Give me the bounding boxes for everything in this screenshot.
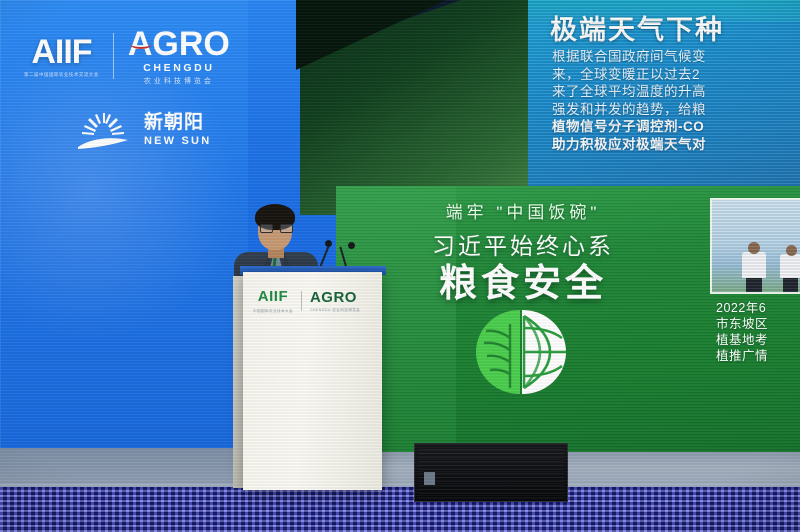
slide-body-line: 来了全球平均温度的升高 [552,83,800,101]
photo-person-head [748,242,760,254]
atf-logo: AIIF 第二届中国国际农业技术交流大会 [24,35,99,78]
atf-logo-tagline: 第二届中国国际农业技术交流大会 [24,72,99,78]
slide-headline: 粮食安全 [388,263,658,305]
conference-stage-screenshot: AIIF 第二届中国国际农业技术交流大会 AGRO CHENGDU 农业科技博览… [0,0,800,532]
podium-agro-logo: AGRO CHENGDU 农业科技博览会 [310,289,360,313]
podium-atf-logo: AIIF 中国国际农业技术大会 [253,288,293,314]
newsun-english: NEW SUN [144,135,211,147]
newsun-chinese: 新朝阳 [144,113,211,133]
caption-line: 植推广情 [716,348,800,364]
podium-atf-tagline: 中国国际农业技术大会 [253,309,293,314]
caption-line: 植基地考 [716,332,800,348]
slide-kicker: 端牢 "中国饭碗" [388,198,658,223]
newsun-logo-text: 新朝阳 NEW SUN [144,113,211,147]
leaf-globe-icon [466,304,576,400]
stage-monitor-grill [418,447,564,498]
slide-body-text: 根据联合国政府间气候变 来，全球变暖正以过去2 来了全球平均温度的升高 强发和并… [552,48,800,153]
stage-monitor-badge [424,472,435,485]
caption-line: 市东坡区 [716,316,800,332]
podium-agro-sub: CHENGDU 农业科技博览会 [310,308,360,313]
speaker-glasses-right [280,224,293,233]
stage-monitor [414,443,568,502]
photo-person-legs [783,278,798,292]
agro-logo: AGRO CHENGDU 农业科技博览会 [128,27,230,86]
backdrop-logo-lockup: AIIF 第二届中国国际农业技术交流大会 AGRO CHENGDU 农业科技博览… [24,26,254,86]
photo-person-legs [746,278,762,292]
caption-line: 2022年6 [716,300,800,316]
podium: AIIF 中国国际农业技术大会 AGRO CHENGDU 农业科技博览会 [243,272,382,490]
mic-head-right [348,242,355,249]
slide-headline-group: 端牢 "中国饭碗" 习近平始终心系 粮食安全 [388,198,658,305]
agro-logo-mark: AGRO [128,27,230,61]
podium-logo-lockup: AIIF 中国国际农业技术大会 AGRO CHENGDU 农业科技博览会 [253,286,375,316]
slide-subtitle: 习近平始终心系 [388,227,658,261]
led-floor-strip [0,487,800,532]
presentation-slide-blue: 极端天气下种 根据联合国政府间气候变 来，全球变暖正以过去2 来了全球平均温度的… [528,0,800,190]
slide-emphasis-line: 植物信号分子调控剂-CO [552,118,800,136]
photo-person [742,252,766,278]
logo-divider [113,33,114,79]
agro-logo-chinese: 农业科技博览会 [144,76,214,86]
newsun-logo: 新朝阳 NEW SUN [74,104,224,156]
agro-hat-icon [130,39,152,49]
podium-logo-divider [301,291,302,311]
speaker-glasses-left [260,224,273,233]
podium-agro-text: AGRO [310,289,360,306]
slide-emphasis-line: 助力积极应对极端天气对 [552,136,800,154]
slide-body-line: 强发和并发的趋势，给粮 [552,101,800,119]
photo-person-head [786,245,797,256]
slide-photo-caption: 2022年6 市东坡区 植基地考 植推广情 [716,300,800,364]
slide-title: 极端天气下种 [550,8,800,47]
mic-head-left [325,240,332,247]
sunrise-field-icon [74,109,132,151]
field-visit-photo [710,198,800,294]
podium-atf-text: AIIF [258,288,288,305]
atf-logo-mark: AIIF [31,35,91,69]
slide-body-line: 来，全球变暖正以过去2 [552,66,800,84]
photo-person [780,254,800,278]
slide-body-line: 根据联合国政府间气候变 [552,48,800,66]
agro-logo-english: CHENGDU [143,62,214,74]
